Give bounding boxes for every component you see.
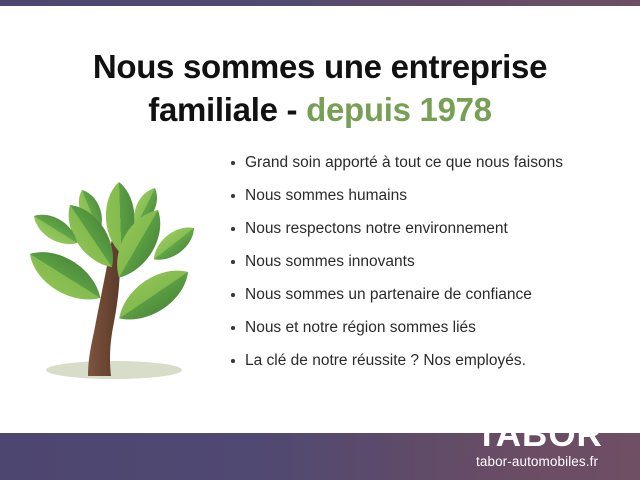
- brand-logo: TABOR tabor-automobiles.fr: [476, 417, 636, 470]
- tree-shadow: [46, 361, 182, 379]
- brand-url: tabor-automobiles.fr: [476, 454, 636, 470]
- headline-line-1: Nous sommes une entreprise: [93, 48, 547, 85]
- footer: TABOR tabor-automobiles.fr: [0, 400, 640, 480]
- list-item: Nous respectons notre environnement: [228, 218, 628, 240]
- list-item: La clé de notre réussite ? Nos employés.: [228, 350, 628, 372]
- headline-line-2-prefix: familiale: [148, 91, 277, 128]
- headline-accent-since-year: depuis 1978: [306, 91, 492, 128]
- slide-canvas: Nous sommes une entreprise familiale - d…: [0, 0, 640, 480]
- value-proposition-list: Grand soin apporté à tout ce que nous fa…: [228, 152, 628, 383]
- page-title: Nous sommes une entreprise familiale - d…: [0, 46, 640, 132]
- list-item: Grand soin apporté à tout ce que nous fa…: [228, 152, 628, 174]
- brand-wordmark: TABOR: [476, 417, 636, 453]
- tree-icon: [8, 150, 223, 395]
- list-item: Nous et notre région sommes liés: [228, 317, 628, 339]
- top-accent-bar: [0, 0, 640, 6]
- list-item: Nous sommes humains: [228, 185, 628, 207]
- list-item: Nous sommes un partenaire de confiance: [228, 284, 628, 306]
- list-item: Nous sommes innovants: [228, 251, 628, 273]
- headline-separator: -: [287, 91, 298, 128]
